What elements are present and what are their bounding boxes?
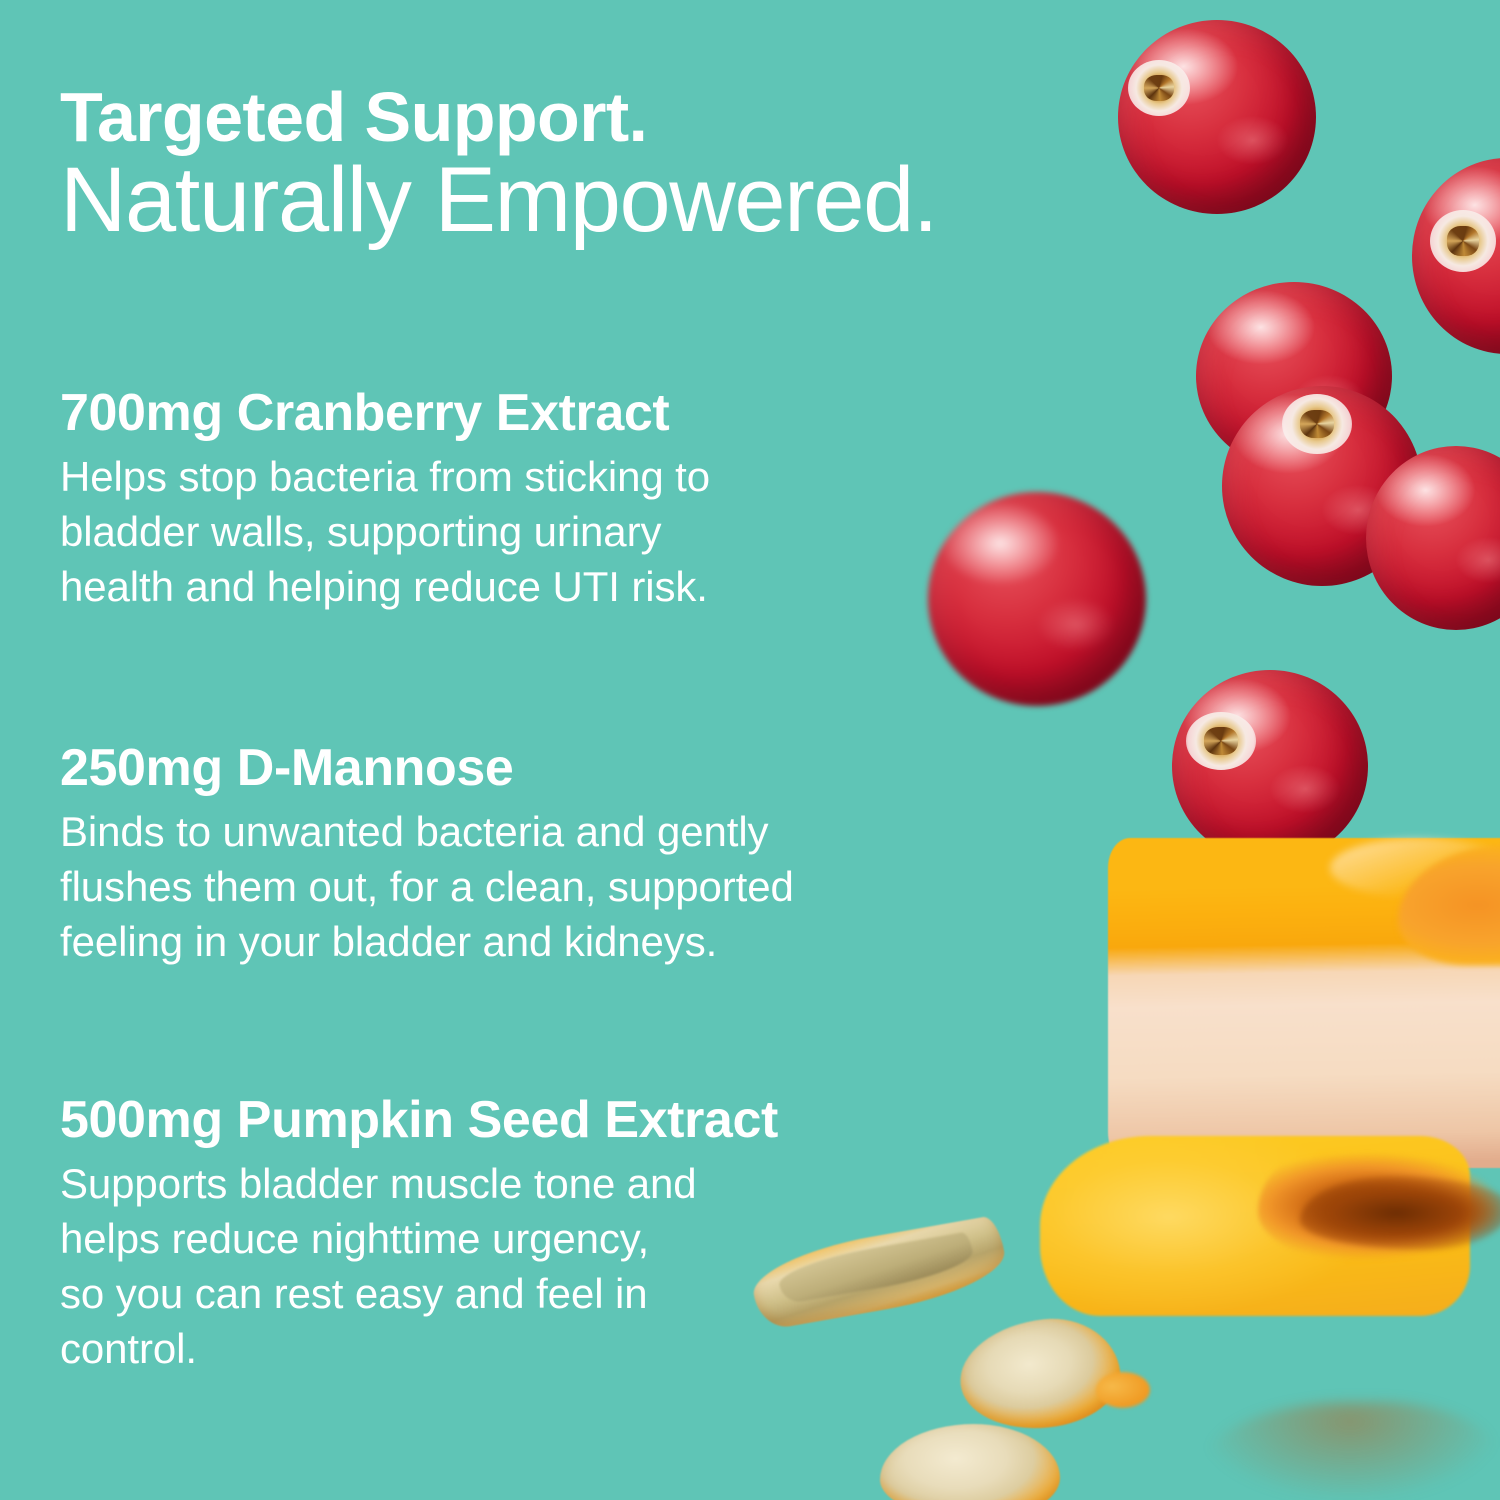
ingredient-title: 250mg D-Mannose (60, 738, 794, 798)
text-content: Targeted Support. Naturally Empowered. 7… (0, 0, 1500, 1500)
ingredient-block-d-mannose: 250mg D-Mannose Binds to unwanted bacter… (60, 738, 794, 969)
ingredient-title: 700mg Cranberry Extract (60, 383, 710, 443)
headline-line-1: Targeted Support. (60, 78, 937, 156)
ingredient-block-cranberry: 700mg Cranberry Extract Helps stop bacte… (60, 383, 710, 614)
ingredient-description: Supports bladder muscle tone and helps r… (60, 1156, 778, 1376)
ingredient-block-pumpkin-seed: 500mg Pumpkin Seed Extract Supports blad… (60, 1090, 778, 1376)
headline-line-2: Naturally Empowered. (60, 152, 937, 248)
ingredient-description: Helps stop bacteria from sticking to bla… (60, 449, 710, 614)
ingredient-description: Binds to unwanted bacteria and gently fl… (60, 804, 794, 969)
ingredient-title: 500mg Pumpkin Seed Extract (60, 1090, 778, 1150)
infographic-canvas: Targeted Support. Naturally Empowered. 7… (0, 0, 1500, 1500)
headline: Targeted Support. Naturally Empowered. (60, 78, 937, 248)
